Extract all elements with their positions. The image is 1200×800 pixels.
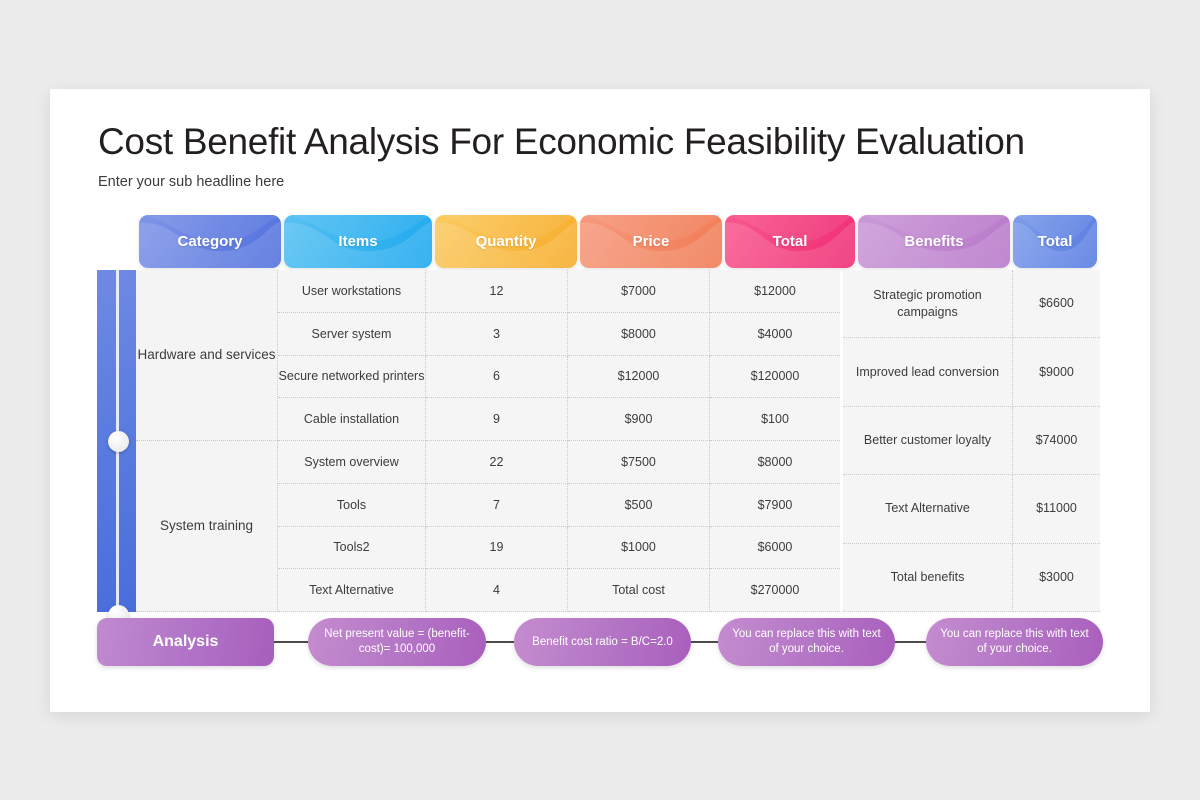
benefits-table: Strategic promotion campaigns$6600Improv… <box>843 270 1100 612</box>
cell-total: $100 <box>710 398 840 441</box>
cell-quantity: 7 <box>426 484 568 527</box>
cell-benefit-name: Total benefits <box>843 544 1013 612</box>
cell-item: Tools <box>278 484 426 527</box>
cell-price: $500 <box>568 484 710 527</box>
analysis-step-pill-4[interactable]: You can replace this with text of your c… <box>926 618 1103 666</box>
table-row: User workstations12$7000$12000 <box>278 270 840 313</box>
cell-item: System overview <box>278 441 426 484</box>
cell-item: Cable installation <box>278 398 426 441</box>
cell-benefit-name: Better customer loyalty <box>843 407 1013 475</box>
table-row: System overview22$7500$8000 <box>278 441 840 484</box>
column-header-benefits-5[interactable]: Benefits <box>858 215 1010 268</box>
cell-quantity: 12 <box>426 270 568 313</box>
cell-benefit-total: $3000 <box>1013 544 1100 612</box>
slide-card: Cost Benefit Analysis For Economic Feasi… <box>50 89 1150 712</box>
analysis-row: AnalysisNet present value = (benefit-cos… <box>97 618 1103 666</box>
benefit-row: Improved lead conversion$9000 <box>843 338 1100 406</box>
cell-total: $12000 <box>710 270 840 313</box>
table-row: Text Alternative4Total cost$270000 <box>278 569 840 612</box>
analysis-step-pill-2[interactable]: Benefit cost ratio = B/C=2.0 <box>514 618 691 666</box>
cell-total: $7900 <box>710 484 840 527</box>
column-header-label: Benefits <box>904 233 963 250</box>
analysis-step-pill-1[interactable]: Net present value = (benefit-cost)= 100,… <box>308 618 486 666</box>
cell-item: Server system <box>278 313 426 356</box>
analysis-connector <box>895 641 926 643</box>
table-row: Tools7$500$7900 <box>278 484 840 527</box>
cell-price: Total cost <box>568 569 710 612</box>
rail-dot-hardware <box>108 431 129 452</box>
cell-benefit-total: $9000 <box>1013 338 1100 406</box>
cell-item: Text Alternative <box>278 569 426 612</box>
cell-price: $12000 <box>568 356 710 399</box>
column-header-label: Items <box>338 233 377 250</box>
analysis-connector <box>486 641 514 643</box>
table-row: Server system3$8000$4000 <box>278 313 840 356</box>
cell-total: $4000 <box>710 313 840 356</box>
category-cell: Hardware and services <box>136 270 278 441</box>
cell-price: $7500 <box>568 441 710 484</box>
column-header-label: Price <box>633 233 670 250</box>
column-header-total-6[interactable]: Total <box>1013 215 1097 268</box>
cell-total: $120000 <box>710 356 840 399</box>
category-rail <box>97 270 136 612</box>
cell-quantity: 19 <box>426 527 568 570</box>
cell-benefit-name: Text Alternative <box>843 475 1013 543</box>
cell-price: $900 <box>568 398 710 441</box>
cell-benefit-name: Improved lead conversion <box>843 338 1013 406</box>
cell-price: $8000 <box>568 313 710 356</box>
column-header-label: Category <box>177 233 242 250</box>
category-cell: System training <box>136 441 278 612</box>
page-title: Cost Benefit Analysis For Economic Feasi… <box>98 121 1025 163</box>
cell-quantity: 22 <box>426 441 568 484</box>
page-subtitle: Enter your sub headline here <box>98 174 284 190</box>
benefit-row: Better customer loyalty$74000 <box>843 407 1100 475</box>
cell-price: $7000 <box>568 270 710 313</box>
column-header-items-1[interactable]: Items <box>284 215 432 268</box>
cell-benefit-name: Strategic promotion campaigns <box>843 270 1013 338</box>
cell-price: $1000 <box>568 527 710 570</box>
cell-benefit-total: $74000 <box>1013 407 1100 475</box>
table-row: Cable installation9$900$100 <box>278 398 840 441</box>
column-header-price-3[interactable]: Price <box>580 215 722 268</box>
analysis-label-pill[interactable]: Analysis <box>97 618 274 666</box>
benefit-row: Text Alternative$11000 <box>843 475 1100 543</box>
cell-quantity: 9 <box>426 398 568 441</box>
column-header-label: Total <box>1038 233 1073 250</box>
analysis-connector <box>274 641 308 643</box>
cell-total: $6000 <box>710 527 840 570</box>
analysis-connector <box>691 641 718 643</box>
cell-quantity: 4 <box>426 569 568 612</box>
column-header-category-0[interactable]: Category <box>139 215 281 268</box>
column-header-total-4[interactable]: Total <box>725 215 855 268</box>
cell-total: $270000 <box>710 569 840 612</box>
cell-quantity: 6 <box>426 356 568 399</box>
column-header-label: Total <box>773 233 808 250</box>
column-header-label: Quantity <box>476 233 537 250</box>
cell-item: Secure networked printers <box>278 356 426 399</box>
cell-item: User workstations <box>278 270 426 313</box>
column-header-quantity-2[interactable]: Quantity <box>435 215 577 268</box>
cell-benefit-total: $6600 <box>1013 270 1100 338</box>
cell-total: $8000 <box>710 441 840 484</box>
cell-benefit-total: $11000 <box>1013 475 1100 543</box>
benefit-row: Total benefits$3000 <box>843 544 1100 612</box>
benefit-row: Strategic promotion campaigns$6600 <box>843 270 1100 338</box>
cost-table: Hardware and servicesSystem trainingUser… <box>136 270 840 612</box>
cell-item: Tools2 <box>278 527 426 570</box>
analysis-step-pill-3[interactable]: You can replace this with text of your c… <box>718 618 895 666</box>
cell-quantity: 3 <box>426 313 568 356</box>
table-row: Tools219$1000$6000 <box>278 527 840 570</box>
table-row: Secure networked printers6$12000$120000 <box>278 356 840 399</box>
